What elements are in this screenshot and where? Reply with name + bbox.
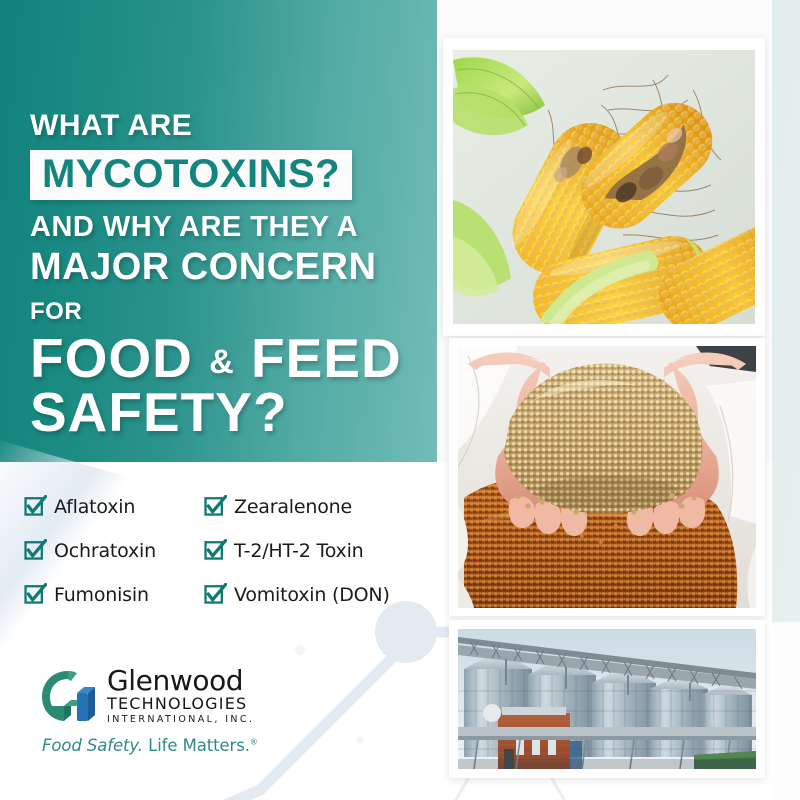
checkmark-icon[interactable] bbox=[24, 539, 47, 562]
poster-canvas: WHAT ARE MYCOTOXINS? AND WHY ARE THEY A … bbox=[0, 0, 800, 800]
checklist-item-vomitoxin-don[interactable]: Vomitoxin (DON) bbox=[204, 583, 444, 606]
checkmark-icon[interactable] bbox=[204, 539, 227, 562]
headline-line-6: SAFETY? bbox=[30, 383, 430, 441]
grain-silos-photo bbox=[458, 629, 756, 769]
checklist-label: Aflatoxin bbox=[54, 496, 135, 518]
headline-line-5: FOOD & FEED bbox=[30, 329, 430, 387]
headline-ampersand: & bbox=[209, 343, 235, 381]
checklist-label: Zearalenone bbox=[234, 496, 352, 518]
headline-block: WHAT ARE MYCOTOXINS? AND WHY ARE THEY A … bbox=[30, 110, 430, 442]
checklist-item-zearalenone[interactable]: Zearalenone bbox=[204, 495, 444, 518]
checkmark-icon[interactable] bbox=[24, 583, 47, 606]
headline-food: FOOD bbox=[30, 327, 193, 389]
checklist-label: T-2/HT-2 Toxin bbox=[234, 540, 364, 562]
headline-line-1: WHAT ARE bbox=[30, 110, 430, 142]
checklist-item-ochratoxin[interactable]: Ochratoxin bbox=[24, 539, 204, 562]
checklist-item-aflatoxin[interactable]: Aflatoxin bbox=[24, 495, 204, 518]
mycotoxin-checklist: Aflatoxin Zearalenone Ochratoxin bbox=[24, 495, 444, 606]
tagline-registered-mark: ® bbox=[250, 738, 258, 747]
logo-wordmark: Glenwood TECHNOLOGIES INTERNATIONAL, INC… bbox=[107, 667, 254, 725]
headline-highlight-mycotoxins: MYCOTOXINS? bbox=[30, 150, 352, 200]
logo-subtitle-technologies: TECHNOLOGIES bbox=[107, 696, 254, 712]
logo-tagline: Food Safety. Life Matters.® bbox=[42, 736, 298, 755]
headline-line-4: MAJOR CONCERN FOR bbox=[30, 247, 430, 328]
corn-cobs-photo bbox=[453, 50, 755, 324]
headline-feed: FEED bbox=[251, 327, 402, 389]
checkmark-icon[interactable] bbox=[24, 495, 47, 518]
headline-major-concern: MAJOR CONCERN bbox=[30, 246, 376, 288]
logo-subtitle-international: INTERNATIONAL, INC. bbox=[107, 715, 254, 725]
grain-silos-photo-card bbox=[449, 620, 765, 778]
checklist-item-t2-ht2-toxin[interactable]: T-2/HT-2 Toxin bbox=[204, 539, 444, 562]
checkmark-icon[interactable] bbox=[204, 583, 227, 606]
checkmark-icon[interactable] bbox=[204, 495, 227, 518]
grain-hands-photo-card bbox=[449, 338, 765, 616]
headline-line-3: AND WHY ARE THEY A bbox=[30, 212, 430, 243]
checklist-label: Vomitoxin (DON) bbox=[234, 584, 390, 606]
tagline-food-safety: Food Safety. bbox=[42, 736, 143, 755]
glenwood-g-mark-icon bbox=[38, 665, 100, 727]
logo-name: Glenwood bbox=[107, 667, 254, 695]
grain-hands-photo bbox=[458, 346, 756, 608]
glenwood-logo[interactable]: Glenwood TECHNOLOGIES INTERNATIONAL, INC… bbox=[38, 665, 298, 755]
logo-row: Glenwood TECHNOLOGIES INTERNATIONAL, INC… bbox=[38, 665, 298, 727]
checklist-label: Fumonisin bbox=[54, 584, 149, 606]
checklist-item-fumonisin[interactable]: Fumonisin bbox=[24, 583, 204, 606]
tagline-life-matters: Life Matters. bbox=[143, 736, 250, 755]
headline-for: FOR bbox=[30, 298, 82, 325]
corn-cobs-photo-card bbox=[443, 38, 765, 336]
checklist-label: Ochratoxin bbox=[54, 540, 156, 562]
